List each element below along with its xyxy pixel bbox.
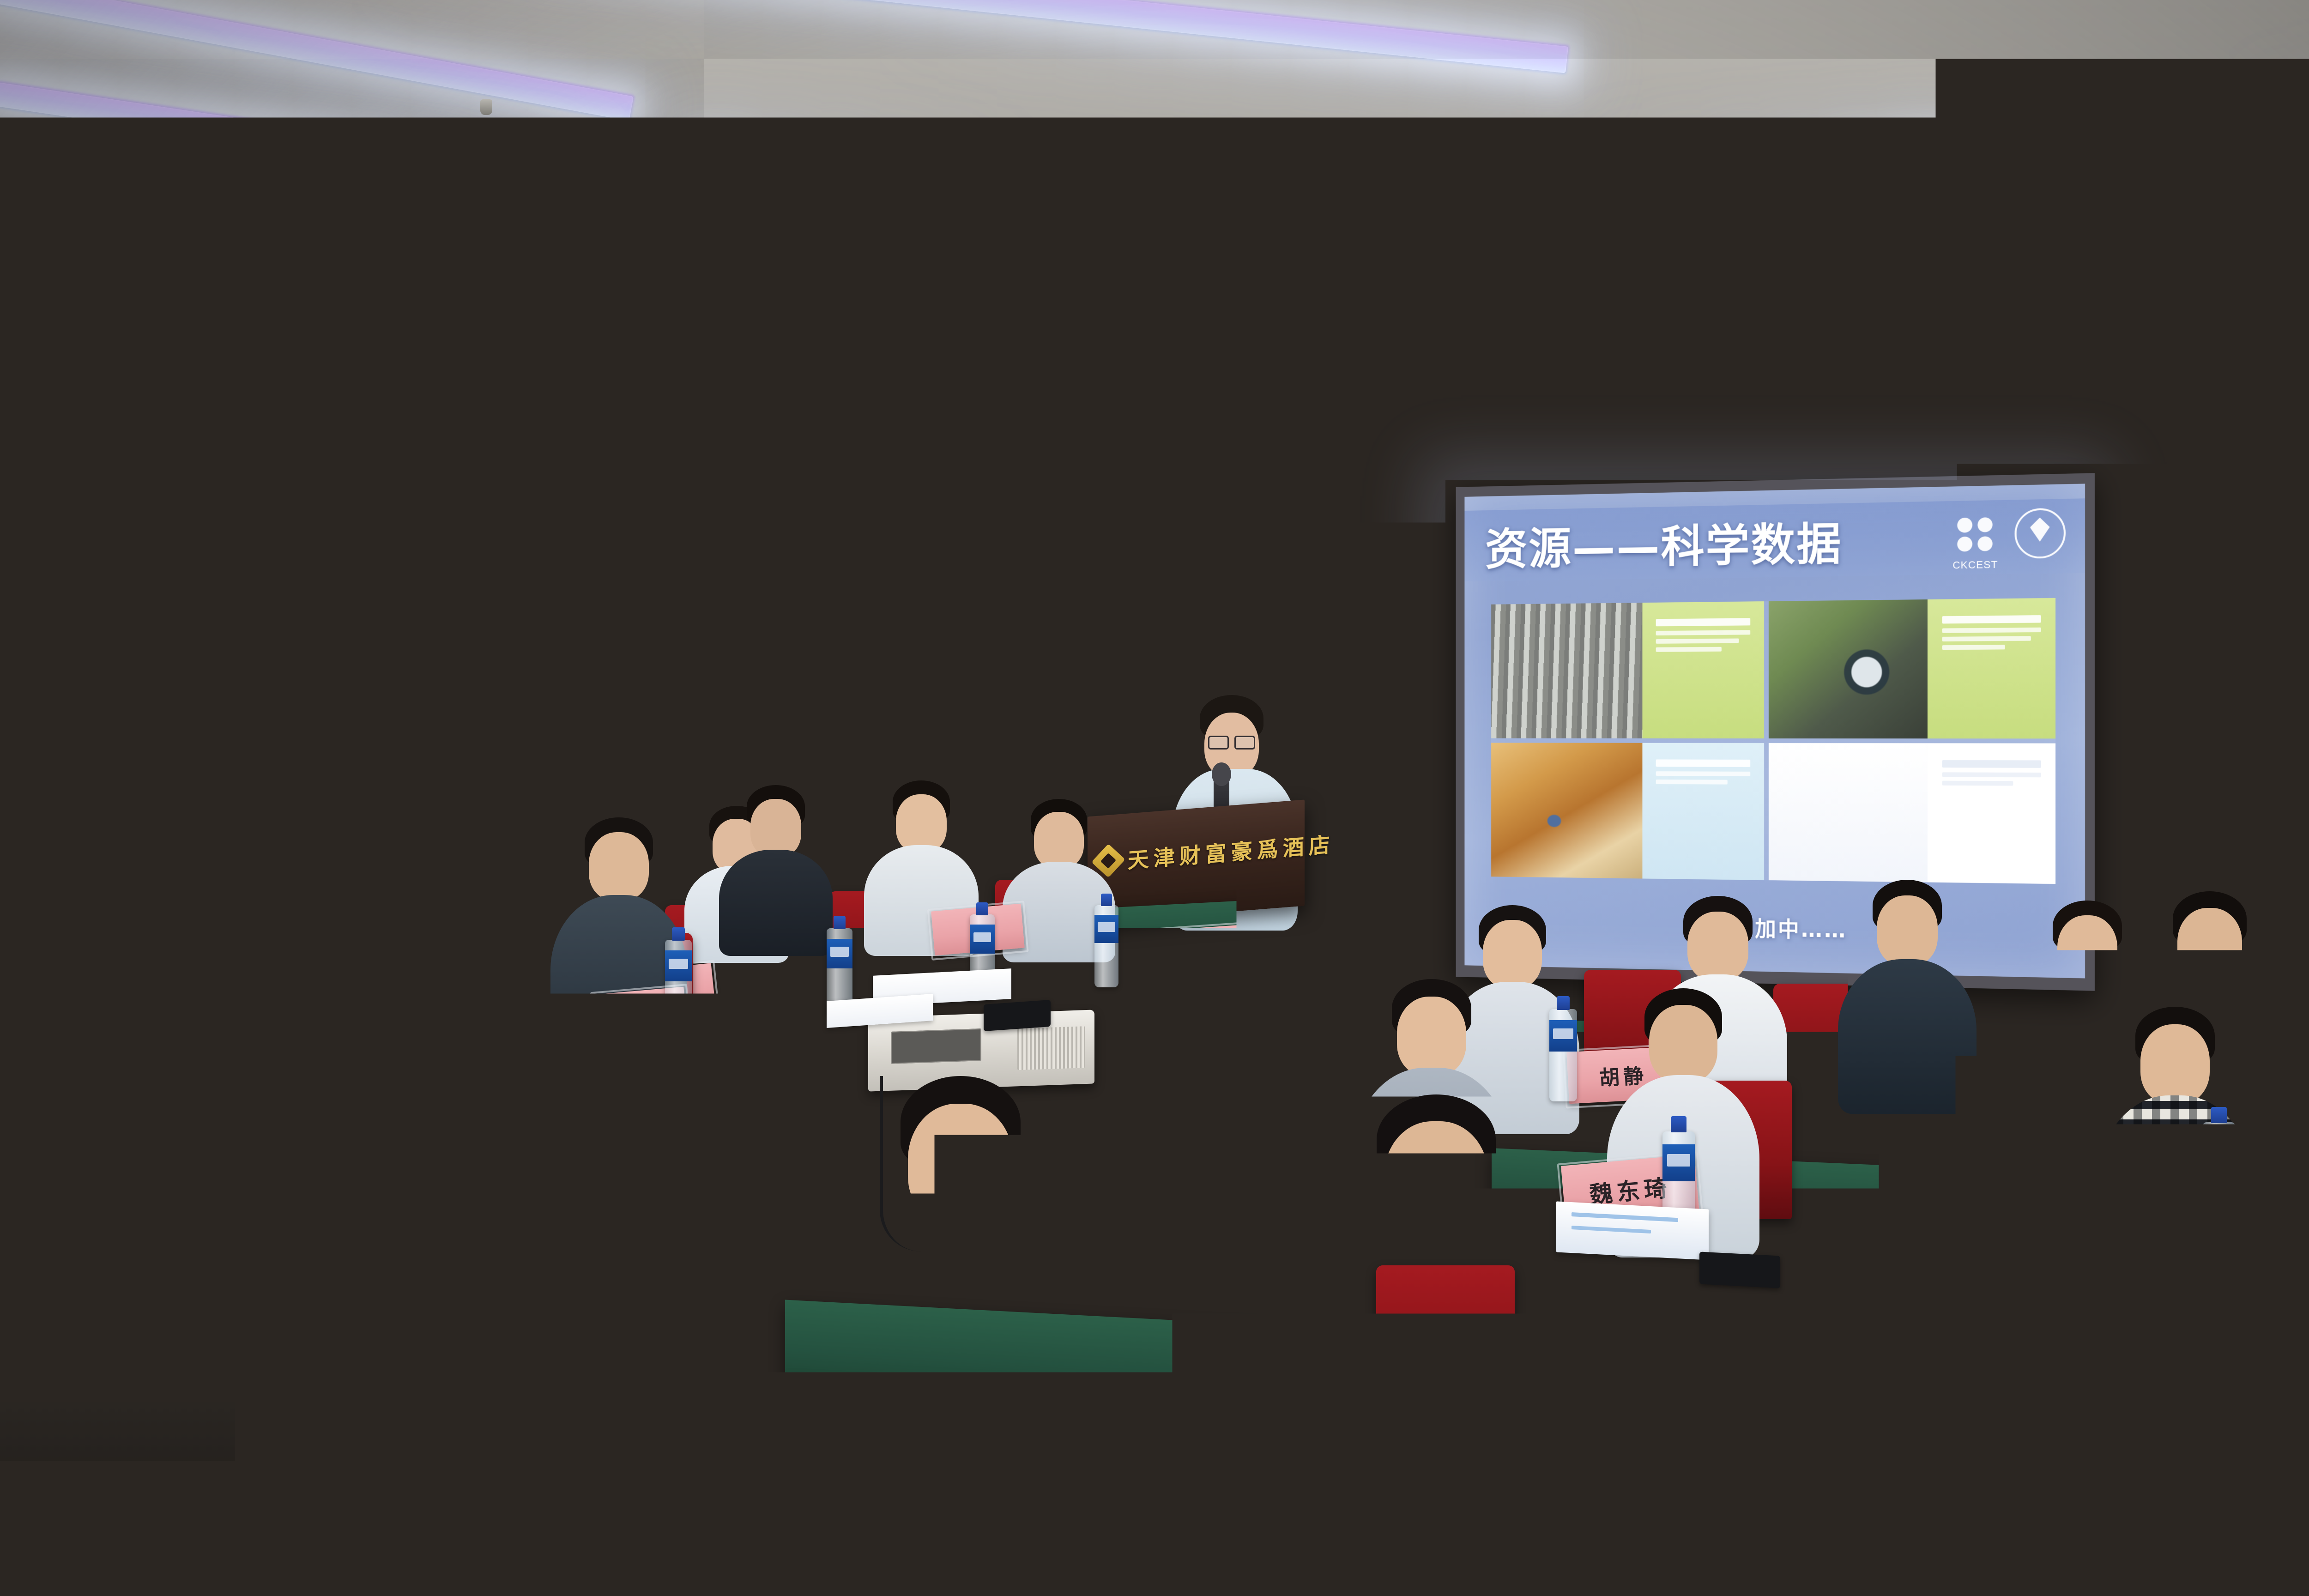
poster-body-text: 地质专业知识服务系统已收集整合地质领域各类数据资源70万余条，包括文献、科学数据…: [408, 732, 567, 794]
divider: [671, 611, 672, 630]
poster-url-value[interactable]: http://geo.ckcest.cn: [256, 770, 361, 780]
handout-booklet: [1556, 1201, 1709, 1260]
name-card: 张林: [196, 1007, 297, 1070]
slide-title: 资源——科学数据: [1485, 508, 1842, 577]
water-bottle: [319, 965, 346, 1058]
slide-cell-note: [1642, 601, 1764, 738]
downlight-1: [305, 319, 326, 330]
handout-booklet: [827, 1297, 1021, 1381]
fire-sprinkler-icon-2: [480, 99, 492, 115]
phone: [1699, 1251, 1780, 1288]
ceiling-speaker-icon: [1584, 434, 1609, 446]
poster-header: [0, 575, 179, 611]
attendee: [1856, 993, 2009, 1270]
floor: [0, 1402, 2309, 1596]
cgs-logo-icon: [299, 594, 314, 615]
water-bottle: [1094, 905, 1118, 987]
slide-logos: CKCEST: [1949, 506, 2066, 561]
cgs-logo-icon: [94, 582, 110, 604]
poster-header: [589, 604, 745, 636]
poster-org-right: [318, 597, 376, 612]
divider: [295, 594, 296, 615]
poster-title-line1: 地质专业知识服务系统: [584, 671, 750, 732]
water-bottle: [1549, 1009, 1577, 1101]
field-outcrop-photo: [1491, 743, 1643, 878]
name-card-text: 张林: [222, 1022, 272, 1056]
divider: [491, 600, 492, 620]
slide-cell: [1491, 601, 1764, 738]
poster-url[interactable]: 系统网址 http://geo.ckcest.cn: [212, 768, 370, 784]
phone: [984, 1000, 1051, 1031]
slide-cell-note: [1642, 743, 1764, 880]
poster-header: [400, 593, 574, 626]
poster-org-right: [514, 602, 570, 617]
ckcest-logo-icon: [592, 610, 612, 630]
poster-header: [202, 587, 380, 622]
name-card-text: 陈文杰: [939, 1237, 1028, 1282]
water-bottle: [2203, 1122, 2235, 1231]
geological-survey-logo-icon: [2014, 508, 2066, 558]
poster-org-right: [691, 613, 742, 628]
blank-photo: [1769, 743, 1928, 883]
glasses-icon: [1208, 736, 1255, 750]
poster-body-text: 地质专业知识服务系统已开发提供6个专题知识服务应用，其中地质调查服务被列为“地质…: [0, 723, 171, 769]
hvac-diffuser-icon: [1658, 186, 1861, 308]
ckcest-logo-caption: CKCEST: [1949, 558, 2002, 571]
water-bottle: [1302, 1265, 1339, 1388]
conference-room-photo: 地质专业知识服务系统 服务应用 地质专业知识服务系统已开发提供6个专题知识服务应…: [0, 0, 2309, 1596]
divider: [90, 582, 91, 604]
poster-org-left: [429, 602, 488, 617]
drill-core-photo: [1491, 603, 1643, 738]
slide-image-grid: [1491, 598, 2056, 884]
attendee: [718, 785, 834, 956]
poster-body-text: 地质专业知识服务系统已于2016年6月正式上线提供服务。: [210, 730, 373, 761]
name-card: 单昌昊: [1139, 925, 1249, 982]
ckcest-logo-icon: CKCEST: [1949, 508, 2002, 561]
podium-sign: 天津财富豪爲酒店: [1096, 822, 1296, 886]
ckcest-logo-icon: [206, 594, 228, 615]
logo-ring-text: GEOLOGICAL SURVEY: [1271, 659, 1366, 667]
geological-survey-logo-icon: GEOLOGICAL SURVEY: [1270, 575, 1367, 672]
cgs-logo-icon: [496, 599, 510, 620]
fire-sprinkler-icon: [1644, 171, 1656, 187]
cgs-logo-icon: [675, 610, 688, 630]
slide-cell: [1769, 598, 2055, 738]
poster-title-line1: 地质专业知识服务系统: [196, 658, 386, 719]
drill-equipment-photo: [1769, 599, 1928, 738]
projector-ports: [891, 1028, 981, 1064]
ckcest-logo-icon: [0, 582, 19, 604]
poster-url-label: 系统网址: [212, 770, 246, 780]
attendee: [351, 822, 490, 1062]
poster-tiles: [213, 798, 369, 837]
slide-cell: [1769, 743, 2055, 884]
poster-title-line1: 地质专业知识服务系统: [395, 662, 580, 723]
poster-org-left: [23, 585, 86, 601]
slide-cell: [1491, 743, 1764, 880]
poster-title-line1: 地质专业知识服务系统: [0, 648, 185, 709]
slide-cell-note: [1928, 598, 2055, 738]
name-card-text: 单昌昊: [1159, 937, 1229, 969]
water-bottle: [1016, 1210, 1051, 1325]
downlight-7: [1533, 152, 1554, 163]
slide-cell-note: [1928, 743, 2055, 884]
projector-vents: [1017, 1026, 1085, 1070]
ckcest-logo-icon: [404, 599, 426, 620]
downlight-5: [1288, 455, 1310, 466]
poster-org-left: [615, 613, 668, 628]
poster-org-left: [231, 597, 291, 612]
water-bottle: [148, 954, 176, 1048]
water-bottle: [665, 940, 692, 1030]
downlight-6: [2214, 455, 2236, 466]
hotel-name-text: 天津财富豪爲酒店: [1128, 828, 1335, 874]
downlight-2: [503, 369, 525, 381]
poster-org-right: [114, 585, 175, 601]
